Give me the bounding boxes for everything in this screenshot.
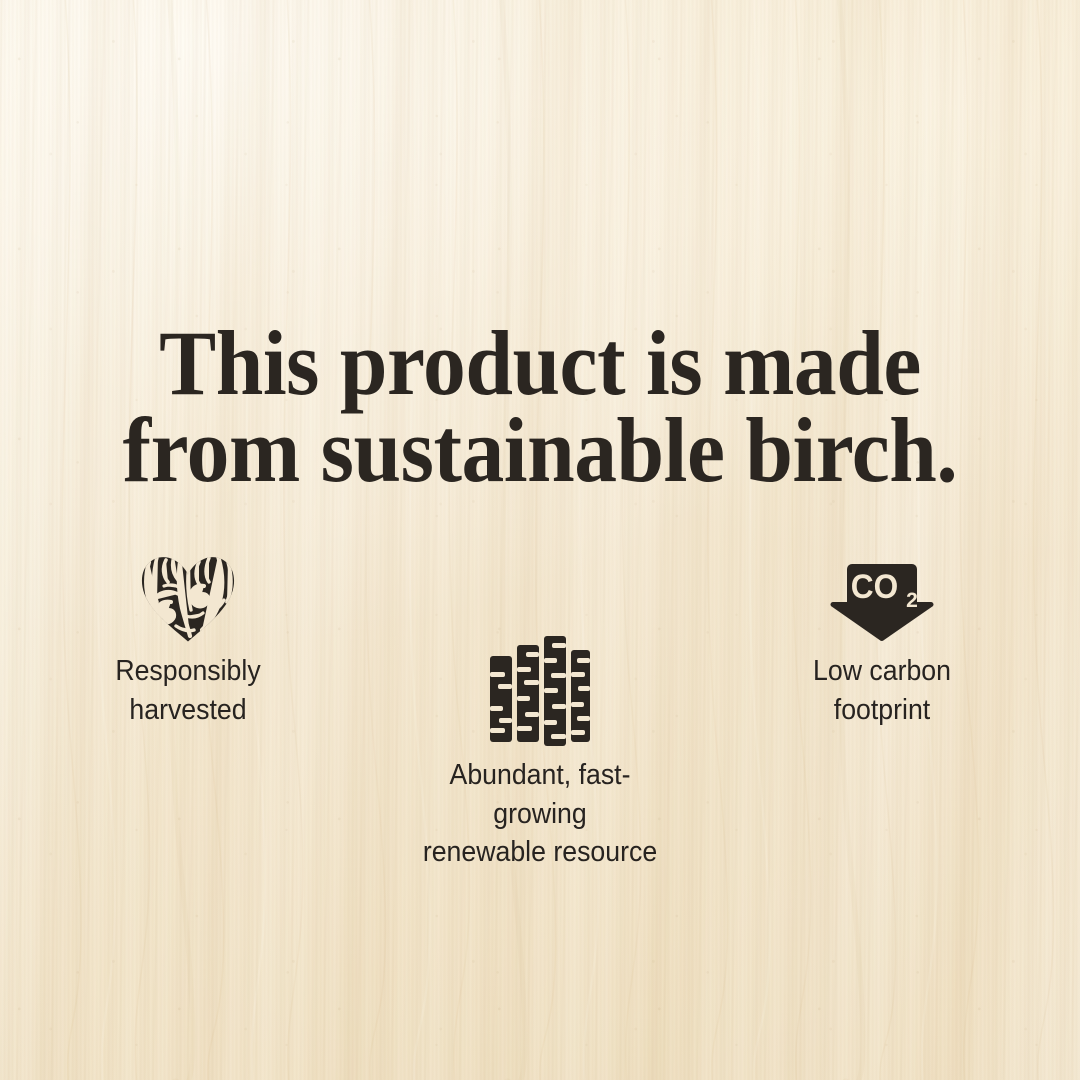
claims-list: Responsibly harvested: [0, 0, 1080, 1080]
claim-caption: Responsibly harvested: [55, 652, 322, 729]
claim-responsibly-harvested: Responsibly harvested: [43, 556, 333, 729]
co2-label-sub: 2: [906, 589, 918, 612]
icon-container: CO 2: [737, 556, 1027, 642]
co2-down-arrow-icon: CO 2: [828, 560, 936, 642]
claim-caption: Low carbon footprint: [749, 652, 1016, 729]
wood-grain-heart-icon: [140, 556, 236, 642]
icon-container: [395, 628, 685, 746]
birch-trunks-icon: [488, 628, 592, 746]
product-claim-card: This product is made from sustainable bi…: [0, 0, 1080, 1080]
co2-label-main: CO: [851, 567, 898, 605]
claim-caption: Abundant, fast-growing renewable resourc…: [407, 756, 674, 872]
claim-low-carbon-footprint: CO 2 Low carbon footprint: [737, 556, 1027, 729]
claim-renewable-resource: Abundant, fast-growing renewable resourc…: [395, 628, 685, 872]
icon-container: [43, 556, 333, 642]
